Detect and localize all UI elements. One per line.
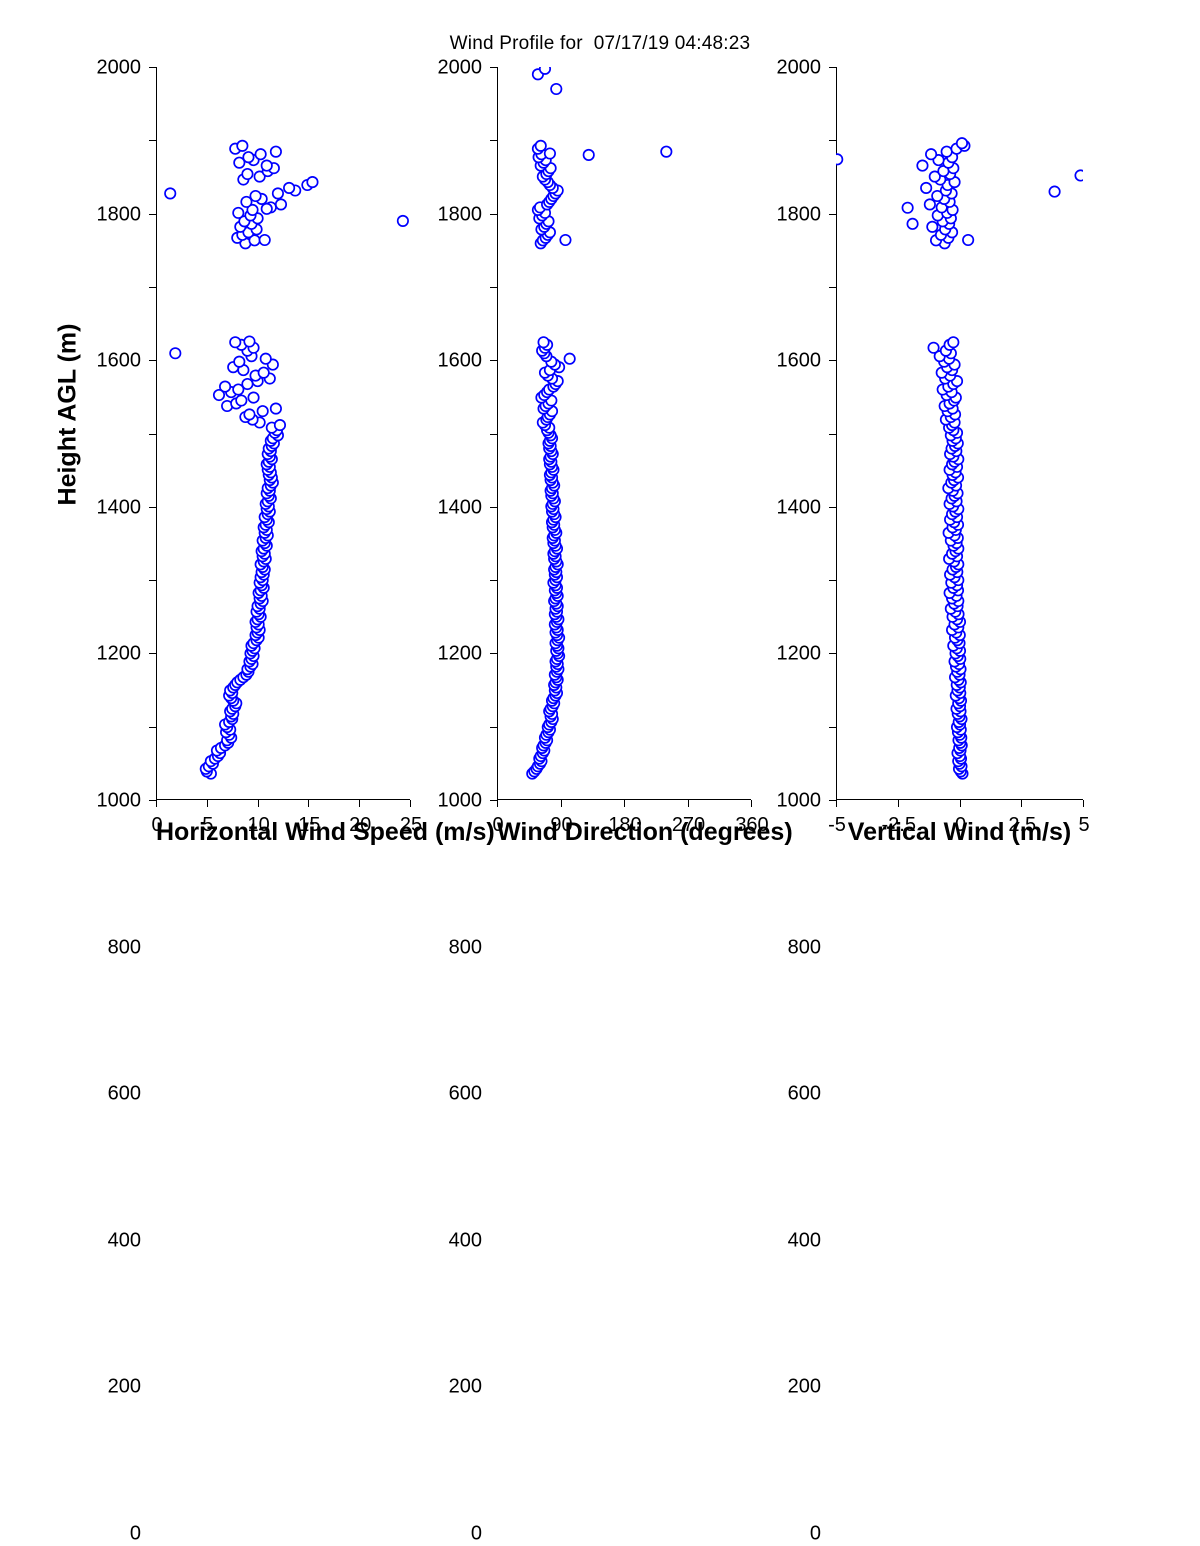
y-tick: 1600	[829, 214, 836, 215]
x-axis-label-0: Horizontal Wind Speed (m/s)	[156, 818, 410, 847]
y-tick-label: 400	[788, 1229, 821, 1252]
data-point	[271, 403, 281, 413]
y-tick: 200	[490, 727, 497, 728]
x-tick: 0	[960, 800, 961, 807]
y-tick: 800	[829, 507, 836, 508]
x-tick: 0	[156, 800, 157, 807]
data-point	[941, 146, 951, 156]
y-tick-label: 1200	[438, 643, 483, 666]
data-point	[928, 343, 938, 353]
data-point	[545, 148, 555, 158]
data-point	[925, 199, 935, 209]
x-tick: 2.5	[1021, 800, 1022, 807]
y-tick: 600	[149, 580, 156, 581]
data-point	[907, 219, 917, 229]
y-tick-label: 400	[108, 1229, 141, 1252]
x-tick: 20	[359, 800, 360, 807]
y-tick: 600	[490, 580, 497, 581]
x-tick: 5	[1083, 800, 1084, 807]
data-point	[234, 356, 244, 366]
panel-horizontal-wind-speed: 0200400600800100012001400160018002000051…	[156, 67, 410, 800]
y-tick-label: 600	[788, 1083, 821, 1106]
data-point	[1049, 186, 1059, 196]
y-tick-label: 1400	[97, 496, 142, 519]
scatter-series-0	[156, 67, 410, 800]
x-tick: 5	[207, 800, 208, 807]
panel-vertical-wind: 0200400600800100012001400160018002000-5-…	[836, 67, 1083, 800]
plot-area-0	[156, 67, 410, 800]
data-point	[262, 204, 272, 214]
y-tick: 2000	[490, 67, 497, 68]
y-tick: 1200	[149, 360, 156, 361]
data-point	[963, 235, 973, 245]
y-tick: 200	[149, 727, 156, 728]
y-tick-label: 1400	[777, 496, 822, 519]
data-point	[170, 348, 180, 358]
data-point	[273, 188, 283, 198]
y-tick: 800	[490, 507, 497, 508]
x-tick: 15	[308, 800, 309, 807]
y-tick: 800	[149, 507, 156, 508]
x-tick: 180	[624, 800, 625, 807]
y-tick-label: 1200	[777, 643, 822, 666]
y-tick-label: 2000	[97, 57, 142, 80]
y-tick-label: 800	[449, 936, 482, 959]
x-axis-label-1: Wind Direction (degrees)	[497, 818, 751, 847]
data-point	[244, 336, 254, 346]
y-tick-label: 200	[788, 1376, 821, 1399]
data-point	[398, 216, 408, 226]
data-point	[284, 183, 294, 193]
data-point	[243, 152, 253, 162]
data-point	[261, 354, 271, 364]
data-point	[220, 381, 230, 391]
y-tick: 1400	[490, 287, 497, 288]
y-tick-label: 200	[449, 1376, 482, 1399]
y-tick-label: 1800	[97, 203, 142, 226]
data-point	[275, 420, 285, 430]
y-tick-label: 1800	[438, 203, 483, 226]
wind-profile-figure: Wind Profile for 07/17/19 04:48:23 Heigh…	[0, 0, 1200, 900]
y-tick-label: 2000	[438, 57, 483, 80]
y-tick-label: 0	[471, 1523, 482, 1546]
data-point	[260, 235, 270, 245]
data-point	[237, 141, 247, 151]
y-tick-label: 1600	[438, 350, 483, 373]
plot-area-2	[836, 67, 1083, 800]
data-point	[242, 169, 252, 179]
data-point	[551, 84, 561, 94]
data-point	[584, 150, 594, 160]
data-point	[250, 191, 260, 201]
y-tick-label: 800	[788, 936, 821, 959]
y-tick: 1800	[149, 140, 156, 141]
data-point	[926, 149, 936, 159]
y-tick-label: 1200	[97, 643, 142, 666]
data-point	[230, 337, 240, 347]
data-point	[165, 188, 175, 198]
y-tick-label: 600	[108, 1083, 141, 1106]
x-tick: 270	[688, 800, 689, 807]
y-tick-label: 600	[449, 1083, 482, 1106]
data-point	[540, 67, 550, 74]
y-tick: 1200	[829, 360, 836, 361]
y-tick-label: 0	[810, 1523, 821, 1546]
y-tick: 400	[149, 653, 156, 654]
y-tick-label: 1000	[438, 790, 483, 813]
x-tick: 0	[497, 800, 498, 807]
data-point	[917, 160, 927, 170]
y-tick-label: 2000	[777, 57, 822, 80]
y-tick: 1200	[490, 360, 497, 361]
y-tick: 0	[829, 800, 836, 801]
y-tick: 1000	[490, 434, 497, 435]
x-tick: -2.5	[898, 800, 899, 807]
y-tick: 1600	[490, 214, 497, 215]
data-point	[921, 183, 931, 193]
y-tick-label: 0	[130, 1523, 141, 1546]
y-tick: 1000	[829, 434, 836, 435]
data-point	[276, 199, 286, 209]
x-tick: 360	[751, 800, 752, 807]
y-tick-label: 1000	[97, 790, 142, 813]
y-tick-label: 1600	[777, 350, 822, 373]
data-point	[262, 160, 272, 170]
data-point	[948, 337, 958, 347]
data-point	[257, 406, 267, 416]
data-point	[233, 208, 243, 218]
data-point	[307, 177, 317, 187]
data-point	[271, 146, 281, 156]
data-point	[255, 149, 265, 159]
y-tick: 1800	[490, 140, 497, 141]
y-tick-label: 400	[449, 1229, 482, 1252]
data-point	[927, 222, 937, 232]
data-point	[560, 235, 570, 245]
panel-wind-direction: 0200400600800100012001400160018002000090…	[497, 67, 751, 800]
data-point	[902, 203, 912, 213]
data-point	[259, 367, 269, 377]
y-axis-label: Height AGL (m)	[54, 285, 83, 545]
scatter-series-2	[836, 67, 1083, 800]
y-tick-label: 200	[108, 1376, 141, 1399]
y-tick: 1000	[149, 434, 156, 435]
x-tick: -5	[836, 800, 837, 807]
y-tick: 200	[829, 727, 836, 728]
y-tick: 400	[829, 653, 836, 654]
y-tick: 1400	[829, 287, 836, 288]
data-point	[957, 138, 967, 148]
y-tick: 0	[149, 800, 156, 801]
y-tick: 0	[490, 800, 497, 801]
data-point	[1075, 170, 1083, 180]
y-tick: 2000	[149, 67, 156, 68]
y-tick-label: 1600	[97, 350, 142, 373]
data-point	[836, 154, 842, 164]
y-tick-label: 800	[108, 936, 141, 959]
plot-area-1	[497, 67, 751, 800]
data-point	[536, 141, 546, 151]
x-tick: 25	[410, 800, 411, 807]
data-point	[242, 379, 252, 389]
data-point	[244, 409, 254, 419]
y-tick-label: 1000	[777, 790, 822, 813]
data-point	[564, 354, 574, 364]
scatter-series-1	[497, 67, 751, 800]
data-point	[236, 395, 246, 405]
y-tick: 1400	[149, 287, 156, 288]
data-point	[248, 392, 258, 402]
y-tick: 2000	[829, 67, 836, 68]
y-tick: 600	[829, 580, 836, 581]
y-tick: 1600	[149, 214, 156, 215]
data-point	[661, 146, 671, 156]
y-tick-label: 1400	[438, 496, 483, 519]
figure-title: Wind Profile for 07/17/19 04:48:23	[0, 33, 1200, 55]
x-tick: 10	[258, 800, 259, 807]
y-tick: 1800	[829, 140, 836, 141]
y-tick: 400	[490, 653, 497, 654]
data-point	[538, 337, 548, 347]
x-axis-label-2: Vertical Wind (m/s)	[836, 818, 1083, 847]
x-tick: 90	[561, 800, 562, 807]
y-tick-label: 1800	[777, 203, 822, 226]
